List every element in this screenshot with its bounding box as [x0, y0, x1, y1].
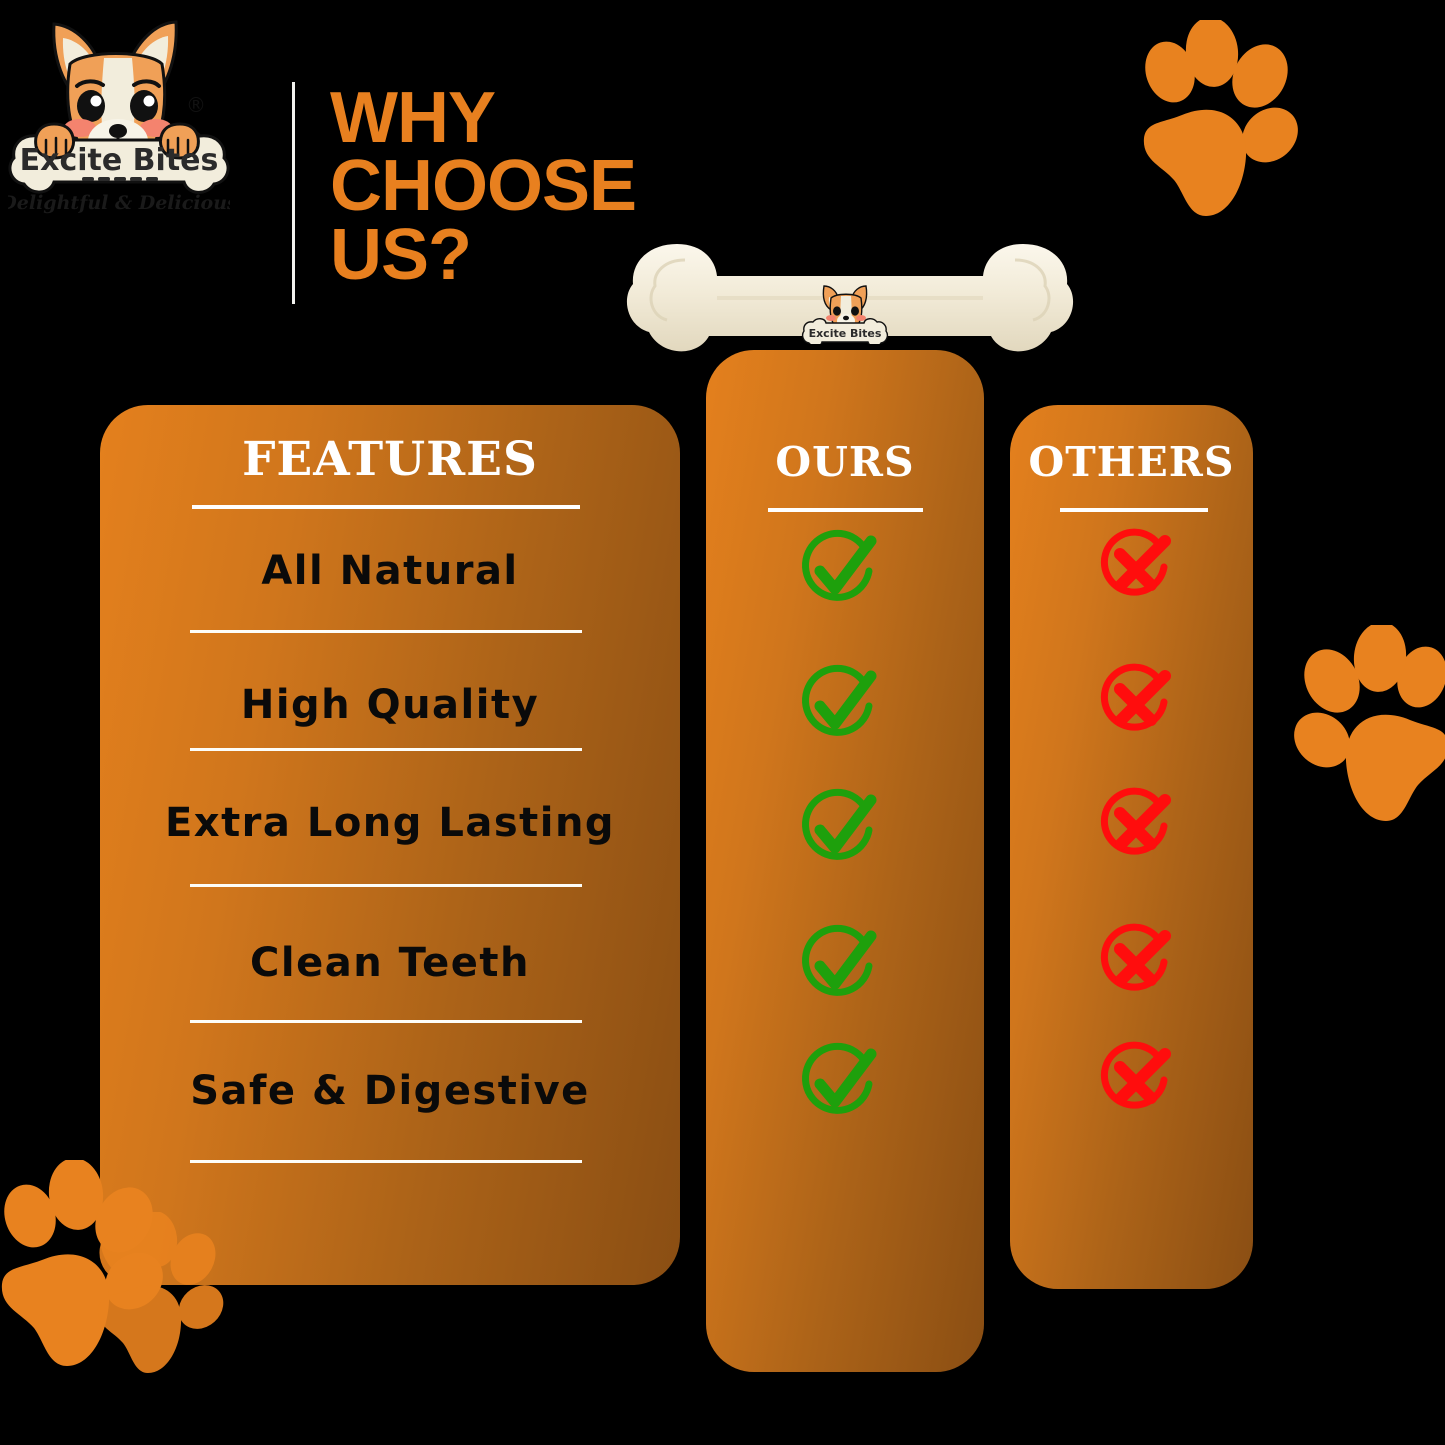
column-header-ours: OURS	[706, 438, 984, 486]
cross-circle-icon-row-5	[1093, 1040, 1177, 1124]
feature-label-row-2: High Quality	[100, 682, 680, 728]
check-circle-icon-row-1	[795, 527, 879, 611]
check-circle-icon-row-3	[795, 786, 879, 870]
feature-row-rule-4	[190, 1020, 582, 1023]
logo-wordmark: Excite Bites	[20, 143, 219, 178]
feature-row-rule-3	[190, 884, 582, 887]
column-header-rule-ours	[768, 508, 923, 512]
page-title-line-2: CHOOSE	[330, 152, 750, 220]
logo-tagline: Delightful & Delicious	[8, 192, 230, 214]
bone-logo-badge: Excite Bites	[800, 282, 890, 344]
poster-canvas: Excite Bites Delightful & Delicious ® WH…	[0, 0, 1445, 1445]
paw-print-icon-top-right	[1140, 20, 1330, 225]
cross-circle-icon-row-1	[1093, 527, 1177, 611]
feature-row-rule-2	[190, 748, 582, 751]
feature-label-row-1: All Natural	[100, 548, 680, 594]
column-header-others: OTHERS	[1010, 438, 1253, 486]
column-header-rule-others	[1060, 508, 1208, 512]
feature-row-rule-1	[190, 630, 582, 633]
brand-logo: Excite Bites Delightful & Delicious ®	[8, 6, 230, 221]
check-circle-icon-row-2	[795, 662, 879, 746]
cross-circle-icon-row-4	[1093, 922, 1177, 1006]
bone-badge-label: Excite Bites	[809, 327, 882, 340]
feature-label-row-5: Safe & Digestive	[100, 1068, 680, 1114]
cross-circle-icon-row-3	[1093, 786, 1177, 870]
check-circle-icon-row-4	[795, 922, 879, 1006]
feature-label-row-4: Clean Teeth	[100, 940, 680, 986]
page-title-line-1: WHY	[330, 84, 750, 152]
column-header-features: FEATURES	[100, 432, 680, 487]
registered-trademark-icon: ®	[186, 93, 206, 117]
title-divider-rule	[292, 82, 295, 304]
feature-label-row-3: Extra Long Lasting	[100, 800, 680, 846]
column-header-rule-features	[192, 505, 580, 509]
check-circle-icon-row-5	[795, 1040, 879, 1124]
paw-print-icon-right	[1262, 625, 1445, 830]
cross-circle-icon-row-2	[1093, 662, 1177, 746]
paw-print-icon-bottom-left-secondary	[95, 1212, 250, 1380]
feature-row-rule-5	[190, 1160, 582, 1163]
